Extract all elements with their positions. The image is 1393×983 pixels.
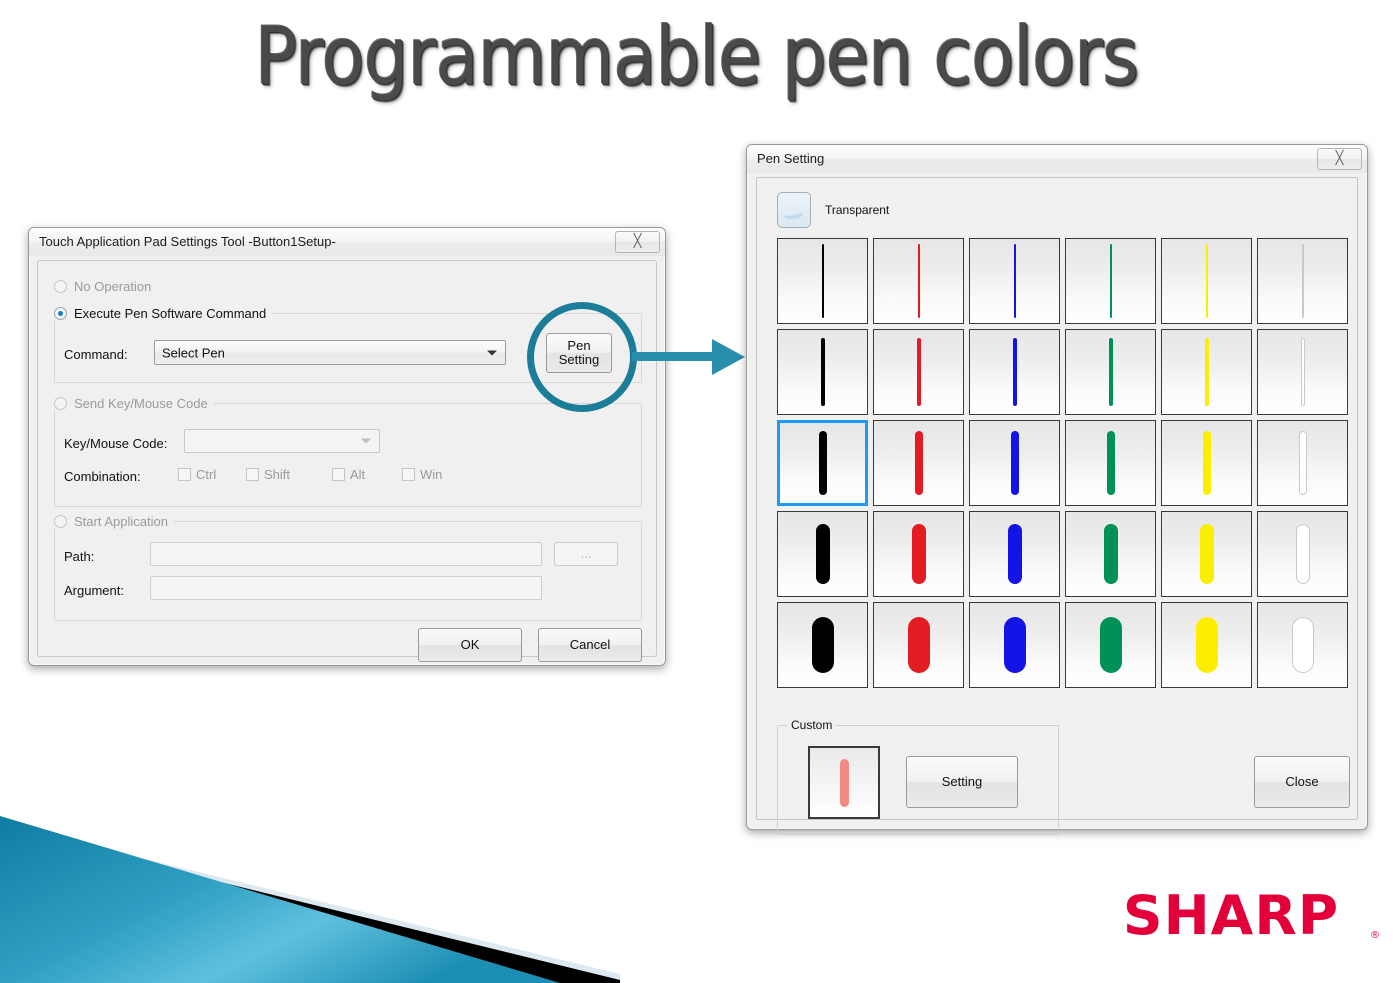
custom-pen-preview[interactable] xyxy=(808,746,880,819)
radio-label-send-key-mouse-code: Send Key/Mouse Code xyxy=(74,396,208,411)
pen-swatch-black-3[interactable] xyxy=(777,420,868,506)
pen-swatch-green-5[interactable] xyxy=(1065,602,1156,688)
checkbox-indicator-shift xyxy=(246,468,259,481)
pen-stroke xyxy=(1296,524,1310,584)
ok-button[interactable]: OK xyxy=(418,628,522,662)
pen-stroke xyxy=(1004,617,1026,673)
pen-swatch-red-3[interactable] xyxy=(873,420,964,506)
radio-execute-pen-command[interactable]: Execute Pen Software Command xyxy=(54,306,272,321)
pen-stroke xyxy=(1299,431,1307,495)
pen-stroke xyxy=(912,524,926,584)
custom-setting-button[interactable]: Setting xyxy=(906,756,1018,808)
command-combobox[interactable]: Select Pen xyxy=(154,340,506,365)
pen-dialog-close-button[interactable]: Close xyxy=(1254,756,1350,808)
chevron-down-icon xyxy=(487,350,497,355)
checkbox-indicator-win xyxy=(402,468,415,481)
pen-swatch-white-4[interactable] xyxy=(1257,511,1348,597)
pen-color-grid xyxy=(777,238,1348,688)
pen-swatch-red-5[interactable] xyxy=(873,602,964,688)
pen-stroke xyxy=(908,617,930,673)
pen-swatch-red-4[interactable] xyxy=(873,511,964,597)
checkbox-indicator-ctrl xyxy=(178,468,191,481)
pen-swatch-yellow-1[interactable] xyxy=(1161,238,1252,324)
pen-swatch-black-4[interactable] xyxy=(777,511,868,597)
pen-swatch-green-2[interactable] xyxy=(1065,329,1156,415)
pen-stroke xyxy=(1109,338,1113,406)
key-mouse-code-combobox[interactable] xyxy=(184,429,380,453)
slide-decoration xyxy=(0,808,620,983)
pen-stroke xyxy=(1107,431,1115,495)
pen-swatch-black-2[interactable] xyxy=(777,329,868,415)
argument-label: Argument: xyxy=(64,583,124,598)
pen-stroke xyxy=(1301,338,1305,406)
command-label: Command: xyxy=(64,347,128,362)
checkbox-ctrl[interactable]: Ctrl xyxy=(178,467,216,482)
pen-stroke xyxy=(1011,431,1019,495)
pen-stroke xyxy=(1013,338,1017,406)
pen-setting-dialog: Pen Setting ╳ Transparent Custom Setting… xyxy=(746,144,1368,830)
transparent-option[interactable]: Transparent xyxy=(777,192,889,228)
radio-send-key-mouse-code[interactable]: Send Key/Mouse Code xyxy=(54,396,214,411)
pen-swatch-red-1[interactable] xyxy=(873,238,964,324)
radio-label-start-application: Start Application xyxy=(74,514,168,529)
radio-label-no-operation: No Operation xyxy=(74,279,151,294)
chevron-down-icon xyxy=(361,439,371,444)
pen-swatch-green-3[interactable] xyxy=(1065,420,1156,506)
pen-stroke xyxy=(812,617,834,673)
close-icon[interactable]: ╳ xyxy=(615,231,660,253)
pen-stroke xyxy=(822,244,824,318)
pen-swatch-blue-5[interactable] xyxy=(969,602,1060,688)
radio-indicator-send-key-mouse-code xyxy=(54,397,67,410)
left-dialog-titlebar: Touch Application Pad Settings Tool -But… xyxy=(29,228,665,256)
checkbox-shift[interactable]: Shift xyxy=(246,467,290,482)
pen-swatch-green-1[interactable] xyxy=(1065,238,1156,324)
pen-swatch-blue-3[interactable] xyxy=(969,420,1060,506)
pen-stroke xyxy=(821,338,825,406)
registered-trademark-icon: ® xyxy=(1370,930,1380,941)
left-dialog-title: Touch Application Pad Settings Tool -But… xyxy=(39,234,336,249)
pen-stroke xyxy=(1302,244,1304,318)
pen-stroke xyxy=(816,524,830,584)
close-icon[interactable]: ╳ xyxy=(1317,148,1362,170)
browse-button[interactable]: ... xyxy=(554,542,618,566)
radio-label-execute-pen-command: Execute Pen Software Command xyxy=(74,306,266,321)
checkbox-label-shift: Shift xyxy=(264,467,290,482)
pen-swatch-blue-1[interactable] xyxy=(969,238,1060,324)
pen-stroke xyxy=(1008,524,1022,584)
radio-indicator-start-application xyxy=(54,515,67,528)
command-combobox-value: Select Pen xyxy=(162,345,225,360)
checkbox-indicator-alt xyxy=(332,468,345,481)
pen-swatch-black-5[interactable] xyxy=(777,602,868,688)
radio-indicator-execute-pen-command xyxy=(54,307,67,320)
pen-stroke xyxy=(1205,338,1209,406)
arrow-annotation-head xyxy=(712,339,745,375)
pen-swatch-yellow-5[interactable] xyxy=(1161,602,1252,688)
pen-stroke xyxy=(915,431,923,495)
touch-application-pad-settings-dialog: Touch Application Pad Settings Tool -But… xyxy=(28,227,666,666)
checkbox-alt[interactable]: Alt xyxy=(332,467,365,482)
custom-group-legend: Custom xyxy=(787,718,836,732)
cancel-button[interactable]: Cancel xyxy=(538,628,642,662)
path-input[interactable] xyxy=(150,542,542,566)
pen-dialog-titlebar: Pen Setting ╳ xyxy=(747,145,1367,173)
pen-swatch-black-1[interactable] xyxy=(777,238,868,324)
checkbox-label-alt: Alt xyxy=(350,467,365,482)
checkbox-label-ctrl: Ctrl xyxy=(196,467,216,482)
pen-swatch-red-2[interactable] xyxy=(873,329,964,415)
highlight-ring-annotation xyxy=(527,302,637,412)
pen-stroke xyxy=(1292,617,1314,673)
radio-start-application[interactable]: Start Application xyxy=(54,514,174,529)
argument-input[interactable] xyxy=(150,576,542,600)
pen-stroke xyxy=(1104,524,1118,584)
pen-stroke xyxy=(819,431,827,495)
pen-stroke xyxy=(917,338,921,406)
pen-stroke xyxy=(1200,524,1214,584)
pen-swatch-blue-2[interactable] xyxy=(969,329,1060,415)
pen-swatch-white-1[interactable] xyxy=(1257,238,1348,324)
pen-swatch-blue-4[interactable] xyxy=(969,511,1060,597)
page-title: Programmable pen colors xyxy=(84,10,1310,103)
checkbox-win[interactable]: Win xyxy=(402,467,442,482)
transparent-swatch-icon xyxy=(777,192,811,228)
pen-dialog-body: Transparent Custom Setting Close xyxy=(756,177,1358,820)
pen-swatch-white-2[interactable] xyxy=(1257,329,1348,415)
custom-pen-stroke xyxy=(840,759,849,807)
pen-stroke xyxy=(918,244,920,318)
pen-stroke xyxy=(1206,244,1208,318)
pen-dialog-title: Pen Setting xyxy=(757,151,824,166)
checkbox-label-win: Win xyxy=(420,467,442,482)
radio-no-operation[interactable]: No Operation xyxy=(54,279,151,294)
pen-stroke xyxy=(1196,617,1218,673)
pen-stroke xyxy=(1110,244,1112,318)
pen-swatch-yellow-4[interactable] xyxy=(1161,511,1252,597)
pen-swatch-green-4[interactable] xyxy=(1065,511,1156,597)
combination-label: Combination: xyxy=(64,469,141,484)
key-mouse-code-label: Key/Mouse Code: xyxy=(64,436,167,451)
start-application-group xyxy=(54,521,642,621)
path-label: Path: xyxy=(64,549,94,564)
pen-stroke xyxy=(1203,431,1211,495)
pen-swatch-white-5[interactable] xyxy=(1257,602,1348,688)
pen-swatch-yellow-2[interactable] xyxy=(1161,329,1252,415)
pen-swatch-yellow-3[interactable] xyxy=(1161,420,1252,506)
pen-swatch-white-3[interactable] xyxy=(1257,420,1348,506)
transparent-label: Transparent xyxy=(825,203,889,217)
pen-stroke xyxy=(1100,617,1122,673)
sharp-logo: SHARP xyxy=(1123,884,1339,947)
pen-stroke xyxy=(1014,244,1016,318)
radio-indicator-no-operation xyxy=(54,280,67,293)
custom-pen-group: Custom Setting xyxy=(777,725,1059,835)
send-key-mouse-group xyxy=(54,403,642,507)
